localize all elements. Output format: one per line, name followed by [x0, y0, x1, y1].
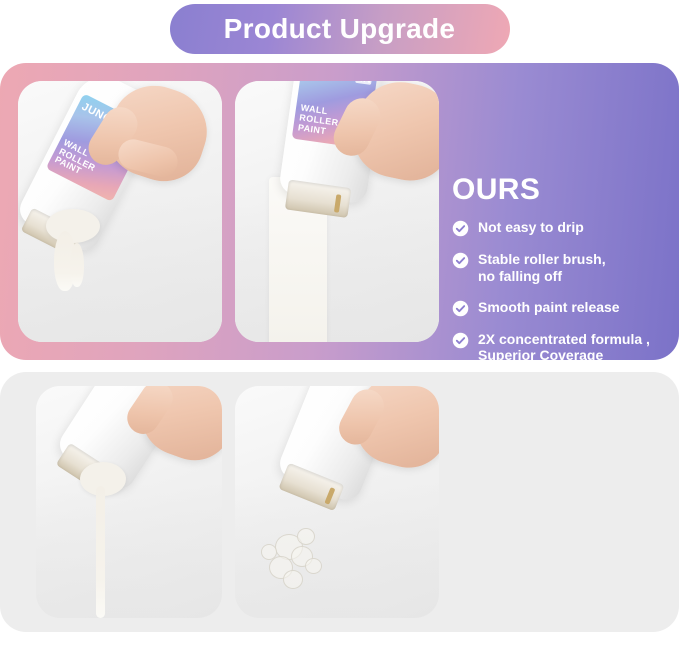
feature-label: Stable roller brush, no falling off: [478, 251, 606, 285]
ours-text-column: OURS Not easy to drip Stable roller brus…: [452, 175, 667, 360]
check-circle-icon: [452, 300, 469, 317]
list-item: 2X concentrated formula , Superior Cover…: [452, 331, 667, 360]
check-circle-icon: [452, 252, 469, 269]
photo-background: JUNGGUAN WALL ROLLER PAINT: [235, 81, 439, 342]
feature-label: 2X concentrated formula , Superior Cover…: [478, 331, 650, 360]
list-item: Smooth paint release: [452, 299, 667, 317]
bottle-brand-text: JUNGGUAN: [305, 81, 372, 85]
list-item: Stable roller brush, no falling off: [452, 251, 667, 285]
paint-patch: [283, 570, 303, 589]
feature-label: Not easy to drip: [478, 219, 584, 236]
list-item: Not easy to drip: [452, 219, 667, 237]
ours-feature-list: Not easy to drip Stable roller brush, no…: [452, 219, 667, 360]
wall-shading: [36, 483, 222, 618]
ours-photo-drip-test: JUNGGUAN WALL ROLLER PAINT: [18, 81, 222, 342]
ours-heading: OURS: [452, 175, 667, 205]
header-banner: Product Upgrade: [0, 0, 679, 58]
others-photo-coverage-test: [235, 386, 439, 618]
page-title: Product Upgrade: [224, 13, 456, 45]
paint-patch: [305, 558, 322, 574]
ours-photo-coverage-test: JUNGGUAN WALL ROLLER PAINT: [235, 81, 439, 342]
others-photo-drip-test: [36, 386, 222, 618]
others-panel: Others Drips easily Small rollers fall o…: [0, 372, 679, 632]
photo-background: [36, 386, 222, 618]
paint-patch: [297, 528, 315, 545]
ours-panel: JUNGGUAN WALL ROLLER PAINT JUN: [0, 63, 679, 360]
paint-patch: [261, 544, 277, 560]
photo-background: [235, 386, 439, 618]
paint-drip: [70, 243, 84, 287]
check-circle-icon: [452, 220, 469, 237]
header-pill: Product Upgrade: [170, 4, 510, 54]
feature-label: Smooth paint release: [478, 299, 620, 316]
check-circle-icon: [452, 332, 469, 349]
paint-drip-stream: [96, 486, 105, 618]
photo-background: JUNGGUAN WALL ROLLER PAINT: [18, 81, 222, 342]
paint-residue: [46, 209, 100, 243]
